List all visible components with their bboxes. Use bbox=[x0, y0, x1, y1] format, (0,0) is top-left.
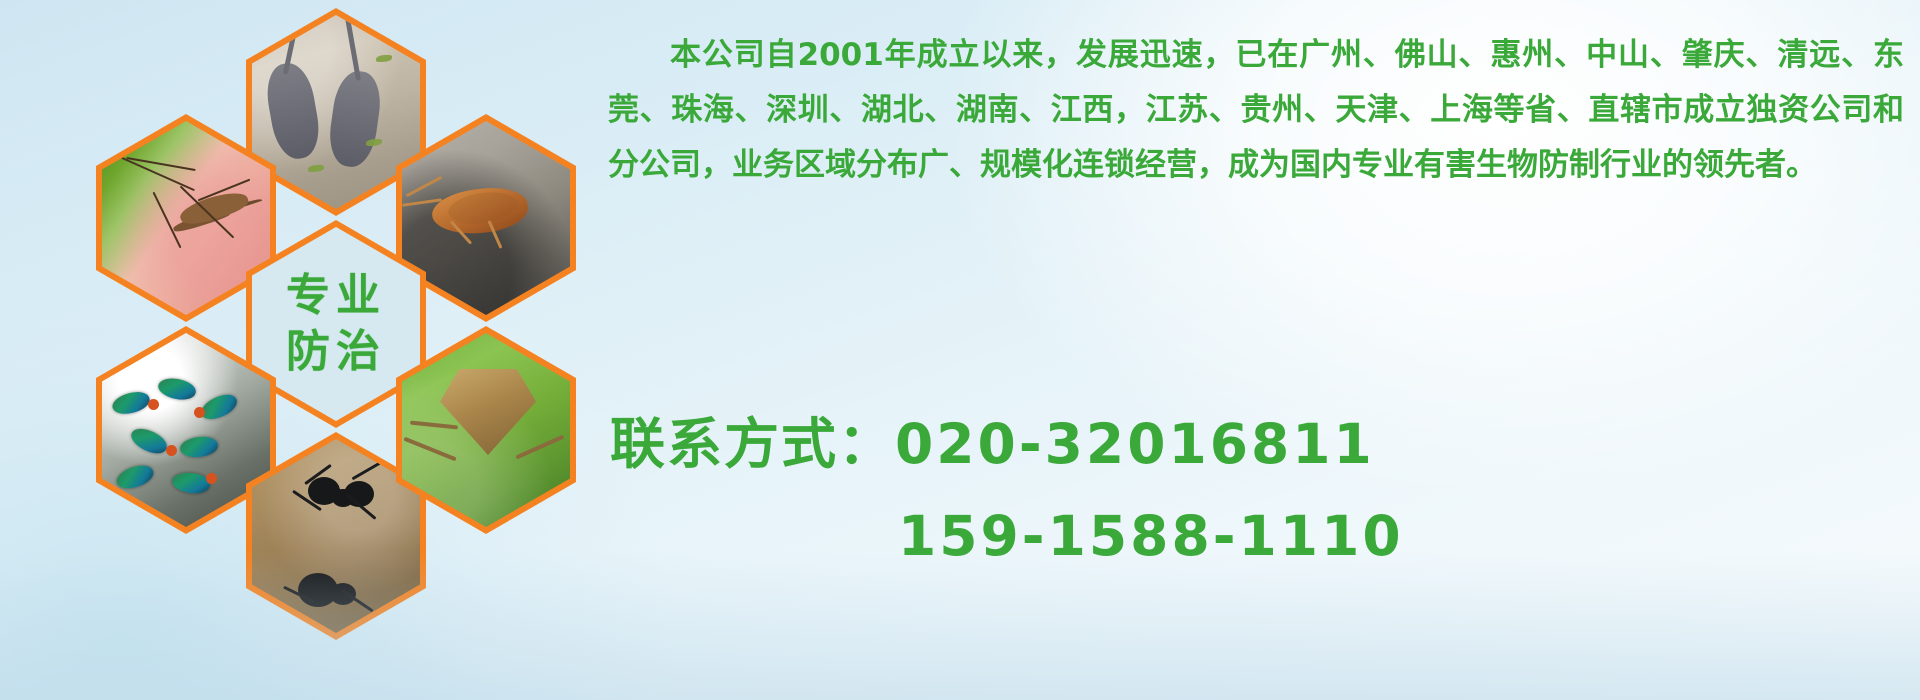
rats-image bbox=[252, 15, 420, 209]
contact-label: 联系方式： bbox=[610, 412, 895, 476]
hex-cockroach-inner bbox=[402, 121, 570, 315]
company-description-text: 本公司自2001年成立以来，发展迅速，已在广州、佛山、惠州、中山、肇庆、清远、东… bbox=[608, 28, 1904, 193]
company-description-block: 本公司自2001年成立以来，发展迅速，已在广州、佛山、惠州、中山、肇庆、清远、东… bbox=[608, 28, 1904, 193]
contact-block: 联系方式：020-32016811 159-1588-1110 bbox=[610, 398, 1910, 582]
flies-image bbox=[102, 333, 270, 527]
contact-primary-line: 联系方式：020-32016811 bbox=[610, 398, 1910, 490]
hex-mosquito-inner bbox=[102, 121, 270, 315]
hexagon-photo-cluster: 专业 防治 bbox=[88, 0, 588, 574]
hex-stinkbug-inner bbox=[402, 333, 570, 527]
promo-banner: 专业 防治 bbox=[0, 0, 1920, 700]
ant-image bbox=[252, 439, 420, 633]
mosquito-image bbox=[102, 121, 270, 315]
logo-slogan: 专业 防治 bbox=[286, 268, 386, 381]
hex-rats-inner bbox=[252, 15, 420, 209]
logo-slogan-line1: 专业 bbox=[286, 268, 386, 324]
cockroach-image bbox=[402, 121, 570, 315]
contact-phone-primary[interactable]: 020-32016811 bbox=[895, 412, 1375, 476]
stinkbug-image bbox=[402, 333, 570, 527]
logo-slogan-line2: 防治 bbox=[286, 324, 386, 380]
contact-phone-secondary[interactable]: 159-1588-1110 bbox=[610, 490, 1910, 582]
hex-ant-inner bbox=[252, 439, 420, 633]
hex-center-inner: 专业 防治 bbox=[252, 227, 420, 421]
hex-flies-inner bbox=[102, 333, 270, 527]
